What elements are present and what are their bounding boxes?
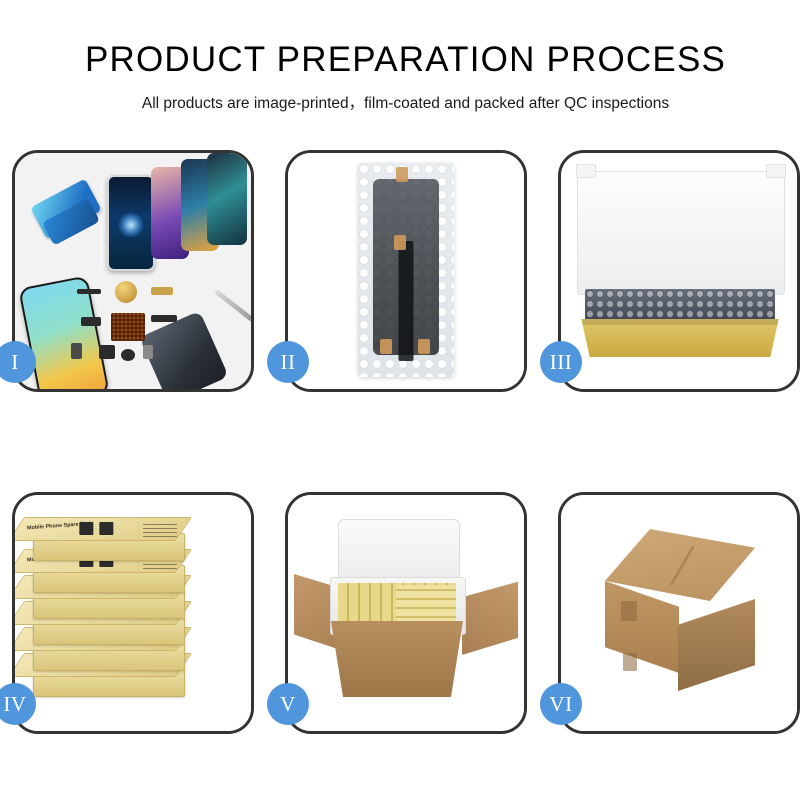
carton-front-icon [322,621,472,697]
carton-tape [621,601,637,621]
part-bit [151,315,177,322]
speaker-part-icon [115,281,137,303]
step-image-2 [288,153,524,389]
stacked-box [33,643,185,671]
kraft-box-icon [575,319,785,357]
part-bit [99,345,115,359]
step-image-4: Mobile Phone Spare Parts Mobile Phone Sp… [15,495,251,731]
tape-piece [396,167,408,182]
step-badge-3: III [540,341,582,383]
tape-piece [418,339,430,354]
process-steps-grid: I II III [12,150,799,734]
page-header: PRODUCT PREPARATION PROCESS All products… [0,0,811,113]
step-image-3 [561,153,797,389]
phone-teal-icon [207,153,247,245]
step-panel-1[interactable]: I [12,150,254,392]
tape-piece [394,235,406,250]
copper-mesh-icon [111,313,145,341]
part-bit [121,349,135,361]
part-bit [77,289,101,294]
part-bit [71,343,82,359]
box-stack-icon: Mobile Phone Spare Parts Mobile Phone Sp… [25,519,243,715]
part-bit [151,287,173,295]
step-panel-4[interactable]: Mobile Phone Spare Parts Mobile Phone Sp… [12,492,254,734]
step-badge-2: II [267,341,309,383]
box-lid-icon [577,171,785,295]
carton-left-face [605,581,679,673]
stacked-box-labeled: Mobile Phone Spare Parts [33,565,185,593]
stacked-box [33,617,185,645]
page-title: PRODUCT PREPARATION PROCESS [0,42,811,77]
part-bit [143,345,153,359]
step-image-5 [288,495,524,731]
step-panel-5[interactable]: V [285,492,527,734]
step-badge-6: VI [540,683,582,725]
bubble-wrap-icon [358,163,454,377]
stacked-box [33,591,185,619]
part-bit [81,317,101,326]
tape-piece [380,339,392,354]
carton-right-face [678,599,755,691]
carton-flap-right [462,577,518,655]
tempered-glass-icon [107,175,155,271]
screwdriver-icon [214,289,251,321]
stacked-box [33,669,185,697]
step-panel-3[interactable]: III [558,150,800,392]
bubble-filler-icon [585,289,775,321]
carton-tape [623,653,637,671]
flex-cable [399,241,414,361]
step-image-1 [15,153,251,389]
step-badge-5: V [267,683,309,725]
gold-boxes-row [396,585,456,625]
page-subtitle: All products are image-printed，film-coat… [0,91,811,113]
step-panel-2[interactable]: II [285,150,527,392]
step-panel-6[interactable]: VI [558,492,800,734]
shipping-carton-icon [579,529,779,689]
step-image-6 [561,495,797,731]
stacked-box-labeled: Mobile Phone Spare Parts [33,533,185,561]
